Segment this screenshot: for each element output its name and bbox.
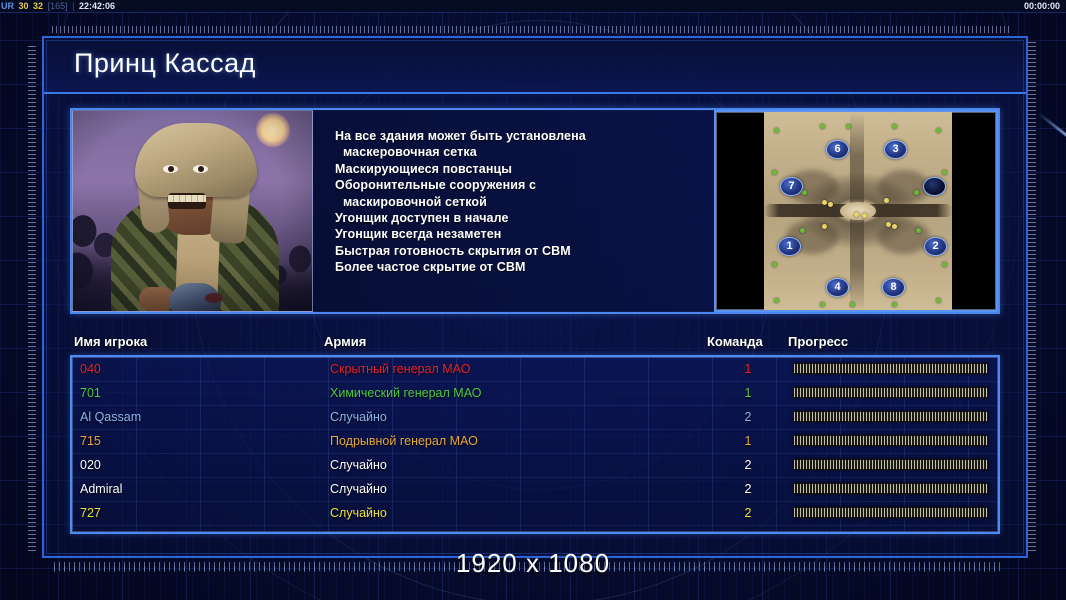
ruler-top [52, 26, 1012, 33]
column-header-player-name: Имя игрока [74, 334, 147, 349]
cell-team: 1 [738, 384, 758, 402]
progress-bar [794, 483, 988, 494]
general-info-panel: На все здания может быть установлена мас… [70, 108, 1000, 314]
table-row[interactable]: 040Скрытный генерал МАО1 [72, 357, 998, 381]
cell-army: МАО [330, 528, 358, 534]
status-bracket: [165] [47, 0, 69, 13]
cell-player-name: 040 [80, 360, 101, 378]
description-line: На все здания может быть установлена [335, 128, 704, 144]
map-resource-marker [772, 170, 777, 175]
description-line: Более частое скрытие от СВМ [335, 259, 704, 275]
cell-player-name: Грозная армия [80, 528, 166, 534]
map-resource-marker [774, 298, 779, 303]
column-header-army: Армия [324, 334, 366, 349]
progress-bar [794, 435, 988, 446]
cell-player-name: 701 [80, 384, 101, 402]
page-title: Принц Кассад [74, 48, 256, 79]
cell-player-name: 727 [80, 504, 101, 522]
map-resource-marker [942, 170, 947, 175]
map-resource-marker [820, 124, 825, 129]
map-resource-marker [892, 124, 897, 129]
map-resource-marker [936, 128, 941, 133]
cell-team: 2 [738, 480, 758, 498]
map-spawn-point-7[interactable]: 7 [780, 177, 803, 196]
map-spawn-point-1[interactable]: 1 [778, 237, 801, 256]
cell-player-name: Al Qassam [80, 408, 141, 426]
table-row[interactable]: 727Случайно2 [72, 501, 998, 525]
cell-team: 2 [738, 456, 758, 474]
progress-bar [794, 387, 988, 398]
map-resource-marker [942, 262, 947, 267]
status-timer: 00:00:00 [1024, 0, 1060, 13]
description-line: Угонщик всегда незаметен [335, 226, 704, 242]
portrait-vignette [73, 111, 312, 311]
map-spawn-point-4[interactable]: 4 [826, 278, 849, 297]
table-row[interactable]: AdmiralСлучайно2 [72, 477, 998, 501]
cell-army: Случайно [330, 456, 387, 474]
column-header-progress: Прогресс [788, 334, 848, 349]
top-status-bar: UR 30 32 [165] | 22:42:06 00:00:00 [0, 0, 1066, 13]
cell-team: 1 [738, 528, 758, 534]
table-row[interactable]: Al QassamСлучайно2 [72, 405, 998, 429]
map-resource-marker [862, 213, 867, 218]
cell-army: Химический генерал МАО [330, 384, 481, 402]
map-spawn-point-8[interactable]: 8 [882, 278, 905, 297]
table-row[interactable]: 701Химический генерал МАО1 [72, 381, 998, 405]
cell-army: Случайно [330, 504, 387, 522]
table-header-row: Имя игрока Армия Команда Прогресс [70, 334, 1000, 354]
map-terrain: 6371248 [764, 112, 952, 310]
cell-team: 1 [738, 432, 758, 450]
table-body: 040Скрытный генерал МАО1701Химический ге… [70, 355, 1000, 534]
map-spawn-point-6[interactable]: 6 [826, 140, 849, 159]
status-clock: 22:42:06 [78, 0, 116, 13]
cell-team: 1 [738, 360, 758, 378]
ruler-left [28, 46, 36, 551]
map-resource-marker [772, 262, 777, 267]
status-number-2: 32 [32, 0, 44, 13]
map-resource-marker [802, 190, 807, 195]
description-line: маскировочной сеткой [335, 194, 704, 210]
ruler-right [1028, 42, 1036, 554]
map-resource-marker [774, 128, 779, 133]
map-resource-marker [828, 202, 833, 207]
map-resource-marker [822, 200, 827, 205]
status-number-1: 30 [18, 0, 30, 13]
map-spawn-point-3[interactable]: 3 [884, 140, 907, 159]
game-lobby-screen: UR 30 32 [165] | 22:42:06 00:00:00 Принц… [0, 0, 1066, 600]
map-resource-marker [822, 224, 827, 229]
title-bar: Принц Кассад [44, 38, 1026, 94]
progress-bar [794, 363, 988, 374]
cell-player-name: Admiral [80, 480, 122, 498]
map-resource-marker [850, 302, 855, 307]
progress-bar [794, 507, 988, 518]
table-row[interactable]: Грозная армияМАО1 [72, 525, 998, 534]
map-resource-marker [820, 302, 825, 307]
map-resource-marker [916, 228, 921, 233]
cell-army: Случайно [330, 408, 387, 426]
map-resource-marker [892, 302, 897, 307]
cell-army: Скрытный генерал МАО [330, 360, 470, 378]
cell-player-name: 020 [80, 456, 101, 474]
status-separator: | [71, 0, 75, 13]
table-row[interactable]: 020Случайно2 [72, 453, 998, 477]
main-panel: Принц Кассад [42, 36, 1028, 558]
map-resource-marker [936, 298, 941, 303]
general-portrait [72, 110, 313, 312]
map-resource-marker [914, 190, 919, 195]
progress-bar [794, 411, 988, 422]
map-resource-marker [886, 222, 891, 227]
map-resource-marker [854, 212, 859, 217]
map-resource-marker [892, 224, 897, 229]
table-row[interactable]: 715Подрывной генерал МАО1 [72, 429, 998, 453]
description-line: Быстрая готовность скрытия от СВМ [335, 243, 704, 259]
description-line: маскеровочная сетка [335, 144, 704, 160]
column-header-team: Команда [707, 334, 763, 349]
progress-bar [794, 459, 988, 470]
map-resource-marker [800, 228, 805, 233]
general-description: На все здания может быть установлена мас… [313, 110, 714, 312]
cell-team: 2 [738, 408, 758, 426]
map-resource-marker [884, 198, 889, 203]
resolution-watermark: 1920 x 1080 [0, 548, 1066, 579]
map-spawn-point-2[interactable]: 2 [924, 237, 947, 256]
map-spawn-point-5[interactable] [923, 177, 946, 196]
status-tag: UR [0, 0, 15, 13]
frame-corner-accent [1037, 112, 1066, 139]
cell-player-name: 715 [80, 432, 101, 450]
map-preview[interactable]: 6371248 [714, 110, 998, 312]
map-center-island [840, 202, 876, 220]
map-resource-marker [846, 124, 851, 129]
cell-army: Подрывной генерал МАО [330, 432, 478, 450]
description-line: Угонщик доступен в начале [335, 210, 704, 226]
description-line: Маскирующиеся повстанцы [335, 161, 704, 177]
cell-army: Случайно [330, 480, 387, 498]
description-line: Оборонительные сооружения с [335, 177, 704, 193]
cell-team: 2 [738, 504, 758, 522]
player-table: Имя игрока Армия Команда Прогресс 040Скр… [70, 334, 1000, 536]
